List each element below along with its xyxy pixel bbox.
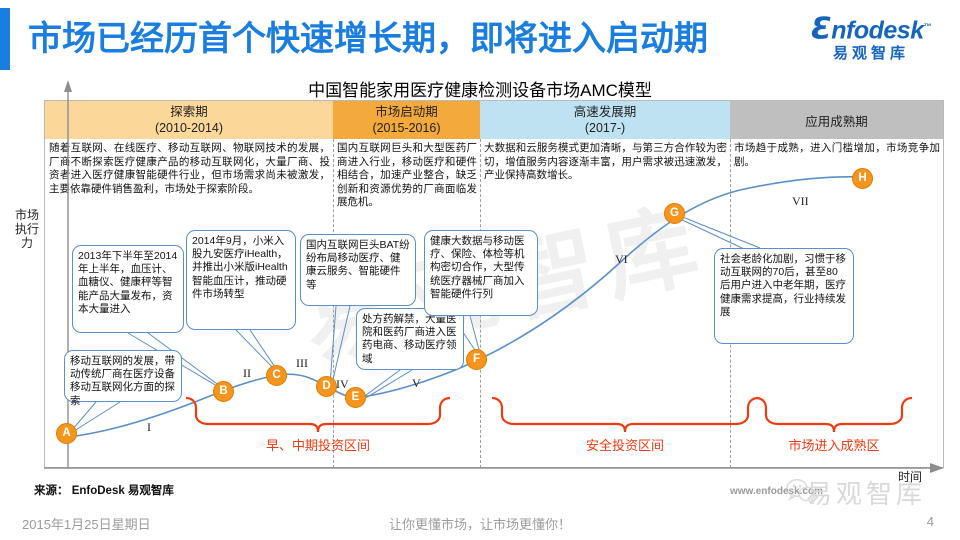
wechat-brand: 易观智库 bbox=[806, 474, 926, 511]
page-title: 市场已经历首个快速增长期，即将进入启动期 bbox=[28, 14, 788, 64]
phase-description-exploration: 随着互联网、在线医疗、移动互联网、物联网技术的发展，厂商不断探索医疗健康产品的移… bbox=[49, 142, 330, 196]
phase-band-startup: 市场启动期 (2015-2016) bbox=[333, 101, 480, 139]
page-number: 4 bbox=[927, 514, 934, 529]
phase-name: 探索期 bbox=[45, 104, 333, 120]
phase-description-high-growth: 大数据和云服务模式更加清晰，与第三方合作较为密切，增值服务内容逐渐丰富，用户需求… bbox=[484, 142, 727, 183]
segment-label-vii: VII bbox=[792, 194, 809, 209]
bracket-label-mature: 市场进入成熟区 bbox=[764, 435, 904, 454]
callout-a: 移动互联网的发展，带动传统厂商在医疗设备移动互联网化方面的探索 bbox=[64, 350, 182, 402]
marker-f: F bbox=[466, 349, 487, 370]
marker-c: C bbox=[266, 365, 287, 386]
marker-d: D bbox=[316, 376, 337, 397]
chart-title: 中国智能家用医疗健康检测设备市场AMC模型 bbox=[0, 76, 960, 101]
logo-wordmark-text: nfodesk bbox=[831, 16, 923, 44]
slide-root: 市场已经历首个快速增长期，即将进入启动期 ℇnfodesk™ 易观智库 中国智能… bbox=[0, 0, 960, 540]
bracket-label-early-mid: 早、中期投资区间 bbox=[248, 435, 388, 454]
marker-b: B bbox=[213, 381, 234, 402]
segment-label-v: V bbox=[412, 376, 421, 391]
phase-description-startup: 国内互联网巨头和大型医药厂商进入行业，移动医疗和硬件相结合，加速产业整合，缺乏创… bbox=[337, 142, 477, 210]
y-axis-label: 市场执行力 bbox=[14, 208, 40, 250]
segment-label-vi: VI bbox=[615, 252, 628, 267]
title-accent-bar bbox=[0, 8, 10, 70]
phase-period: (2010-2014) bbox=[45, 120, 333, 136]
footer-slogan: 让你更懂市场，让市场更懂你！ bbox=[0, 514, 960, 533]
phase-description-maturity: 市场趋于成熟，进入门槛增加，市场竞争加剧。 bbox=[734, 142, 940, 169]
segment-label-iii: III bbox=[296, 356, 308, 371]
phase-band-maturity: 应用成熟期 bbox=[730, 101, 943, 139]
logo-trademark: ™ bbox=[924, 22, 932, 31]
marker-h: H bbox=[852, 168, 873, 189]
segment-label-iv: IV bbox=[336, 377, 349, 392]
phase-band-high-growth: 高速发展期 (2017-) bbox=[480, 101, 730, 139]
logo-wordmark: ℇnfodesk™ bbox=[796, 14, 946, 43]
enfodesk-logo: ℇnfodesk™ 易观智库 bbox=[796, 14, 946, 64]
phase-name: 高速发展期 bbox=[480, 104, 730, 120]
callout-e: 处方药解禁，大量医院和医药厂商进入医药电商、移动医疗领域 bbox=[356, 308, 464, 370]
callout-d: 国内互联网巨头BAT纷纷布局移动医疗、健康云服务、智能硬件等 bbox=[300, 234, 416, 306]
phase-name: 应用成熟期 bbox=[730, 104, 943, 130]
source-note: 来源： EnfoDesk 易观智库 bbox=[34, 482, 174, 498]
segment-label-i: I bbox=[147, 420, 151, 435]
callout-g: 社会老龄化加剧，习惯于移动互联网的70后，甚至80后用户进入中老年期，医疗健康需… bbox=[714, 248, 854, 344]
phase-period: (2015-2016) bbox=[333, 120, 480, 136]
logo-subtitle: 易观智库 bbox=[796, 44, 946, 64]
segment-label-ii: II bbox=[243, 366, 251, 381]
phase-name: 市场启动期 bbox=[333, 104, 480, 120]
phase-band-exploration: 探索期 (2010-2014) bbox=[45, 101, 333, 139]
callout-b: 2013年下半年至2014年上半年，血压计、血糖仪、健康秤等智能产品大量发布，资… bbox=[72, 245, 184, 333]
phase-period: (2017-) bbox=[480, 120, 730, 136]
marker-a: A bbox=[56, 423, 77, 444]
callout-c: 2014年9月，小米入股九安医疗iHealth，并推出小米版iHealth智能血… bbox=[186, 230, 296, 330]
callout-f: 健康大数据与移动医疗、保险、体检等机构密切合作，大型传统医疗器械厂商加入智能硬件… bbox=[424, 230, 538, 316]
bracket-label-safe: 安全投资区间 bbox=[565, 435, 685, 454]
marker-g: G bbox=[664, 203, 685, 224]
